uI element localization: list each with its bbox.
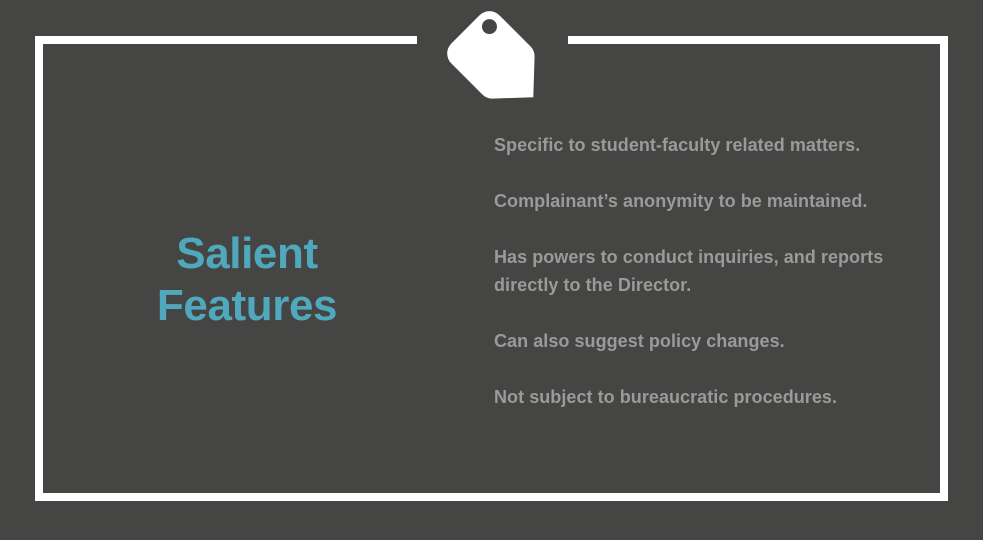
list-item: Not subject to bureaucratic procedures.	[494, 383, 918, 411]
frame-border-top-left	[35, 36, 417, 44]
frame-border-left	[35, 36, 43, 501]
frame-border-top-right	[568, 36, 948, 44]
features-list: Specific to student-faculty related matt…	[494, 131, 918, 411]
tag-icon	[441, 2, 545, 112]
frame-border-bottom	[35, 493, 948, 501]
slide-canvas: Salient Features Specific to student-fac…	[0, 0, 983, 540]
list-item: Has powers to conduct inquiries, and rep…	[494, 243, 918, 299]
list-item: Specific to student-faculty related matt…	[494, 131, 918, 159]
page-title: Salient Features	[60, 228, 434, 333]
list-item: Complainant’s anonymity to be maintained…	[494, 187, 918, 215]
title-block: Salient Features	[60, 228, 434, 333]
frame-border-right	[940, 36, 948, 501]
list-item: Can also suggest policy changes.	[494, 327, 918, 355]
